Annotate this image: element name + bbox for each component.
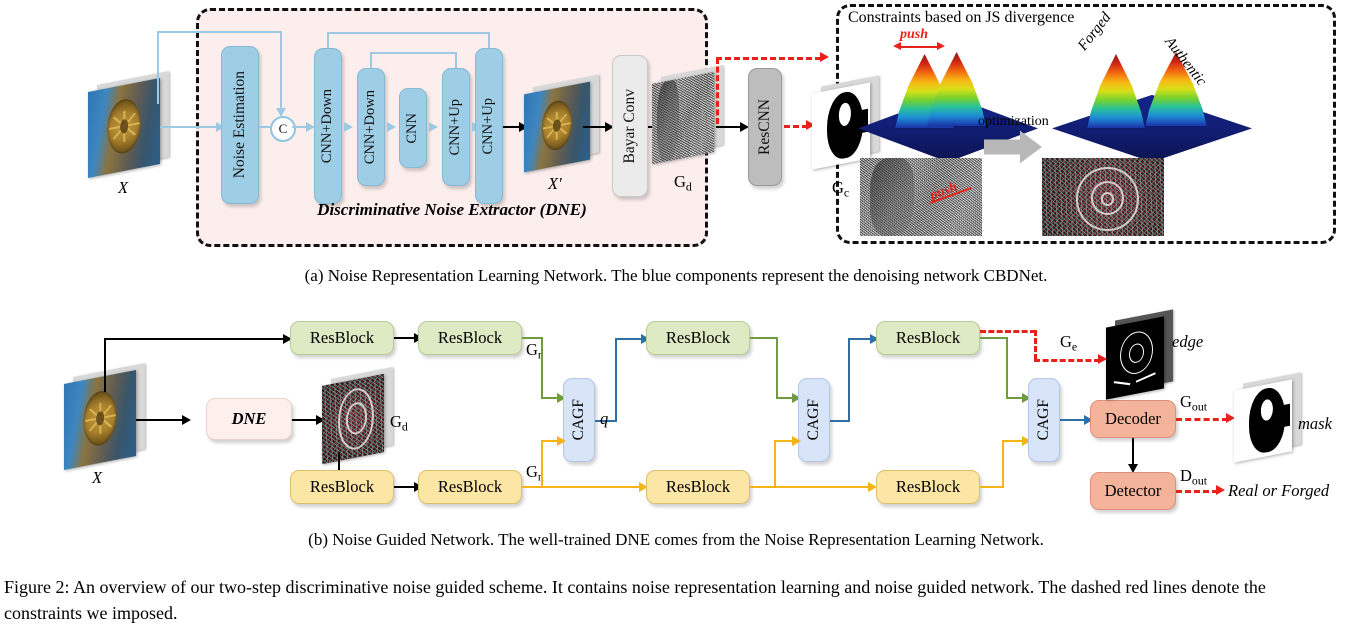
dne-region-title: Discriminative Noise Extractor (DNE) bbox=[196, 200, 708, 220]
resblock-rgb-1: ResBlock bbox=[290, 321, 394, 355]
detect-signal-label: Dout bbox=[1180, 466, 1207, 488]
edge-signal-label: Ge bbox=[1060, 332, 1077, 354]
block-cnn-down-1: CNN+Down bbox=[314, 48, 342, 204]
concat-node: C bbox=[270, 116, 296, 142]
panel-a-input-label: X bbox=[118, 178, 128, 198]
resblock-noise-2: ResBlock bbox=[418, 470, 522, 504]
panel-a-caption: (a) Noise Representation Learning Networ… bbox=[0, 266, 1352, 286]
block-bayar-conv: Bayar Conv bbox=[612, 55, 648, 197]
panel-a-noise-label: Gd bbox=[674, 172, 692, 194]
figure-2: X Noise Estimation C CNN+Down CNN+Down C… bbox=[0, 0, 1352, 642]
push-label-top: push bbox=[900, 27, 928, 43]
panel-b-input-label: X bbox=[92, 468, 102, 488]
resblock-rgb-2: ResBlock bbox=[418, 321, 522, 355]
panel-b-noise-label: Gd bbox=[390, 412, 408, 434]
block-rescnn: ResCNN bbox=[748, 68, 782, 186]
residual-image-after bbox=[1042, 158, 1164, 236]
panel-b-caption: (b) Noise Guided Network. The well-train… bbox=[0, 530, 1352, 550]
block-dne: DNE bbox=[206, 398, 292, 440]
fusion-output-label-q: q bbox=[600, 409, 608, 429]
mask-output-label: mask bbox=[1298, 414, 1332, 434]
mask-output-image bbox=[1234, 385, 1292, 457]
mask-signal-label: Gout bbox=[1180, 392, 1207, 414]
edge-output-label: edge bbox=[1172, 332, 1203, 352]
resblock-rgb-3: ResBlock bbox=[646, 321, 750, 355]
feature-label-gr: Gr bbox=[526, 340, 542, 362]
surface-plot-after bbox=[1052, 44, 1252, 164]
block-cnn: CNN bbox=[399, 88, 427, 168]
block-cagf-3: CAGF bbox=[1028, 378, 1060, 462]
block-decoder: Decoder bbox=[1090, 400, 1176, 438]
block-detector: Detector bbox=[1090, 472, 1176, 510]
detect-output-label: Real or Forged bbox=[1228, 481, 1329, 501]
panel-b-input-image bbox=[64, 377, 136, 463]
panel-a-mask-label: Gc bbox=[832, 178, 849, 200]
panel-a-noise-map bbox=[652, 78, 714, 158]
figure-caption: Figure 2: An overview of our two-step di… bbox=[4, 574, 1348, 626]
wheel-graphic bbox=[107, 96, 140, 156]
resblock-noise-3: ResBlock bbox=[646, 470, 750, 504]
panel-a-input-image bbox=[88, 85, 160, 171]
edge-output-image bbox=[1106, 322, 1164, 394]
block-cagf-1: CAGF bbox=[563, 378, 595, 462]
block-cagf-2: CAGF bbox=[798, 378, 830, 462]
optimization-label: optimization bbox=[978, 114, 1049, 130]
panel-b-noise-map bbox=[322, 380, 384, 458]
block-noise-estimation: Noise Estimation bbox=[221, 46, 259, 204]
resblock-noise-1: ResBlock bbox=[290, 470, 394, 504]
constraint-panel-title: Constraints based on JS divergence bbox=[848, 9, 1074, 27]
block-cnn-down-2: CNN+Down bbox=[357, 68, 385, 186]
block-cnn-up-1: CNN+Up bbox=[442, 68, 470, 186]
resblock-rgb-4: ResBlock bbox=[876, 321, 980, 355]
denoised-image bbox=[524, 88, 590, 166]
resblock-noise-4: ResBlock bbox=[876, 470, 980, 504]
block-cnn-up-2: CNN+Up bbox=[475, 48, 503, 204]
denoised-image-label: X' bbox=[548, 174, 562, 194]
residual-image-before bbox=[860, 158, 982, 236]
